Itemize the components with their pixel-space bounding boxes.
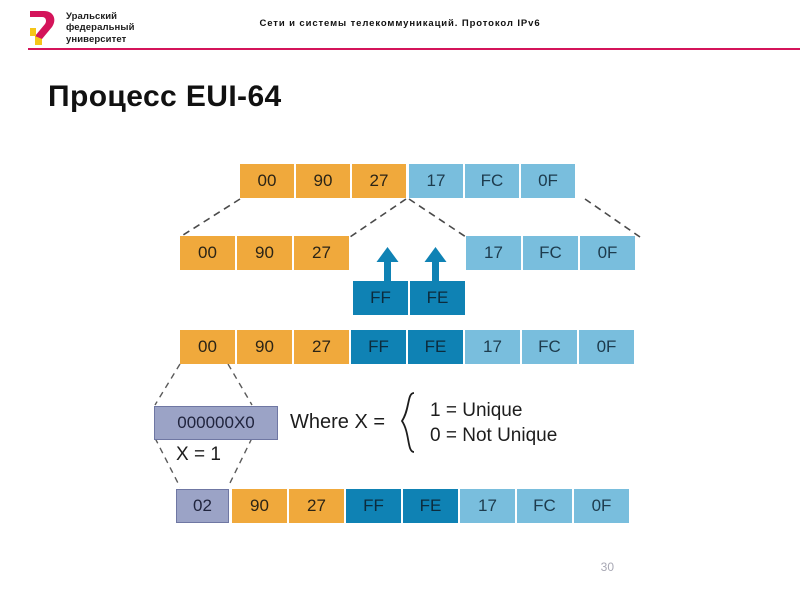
octet-cell: FC — [522, 330, 577, 364]
dashed-connector-right — [409, 199, 640, 237]
octet-cell: FF — [346, 489, 401, 523]
dashed-connector-left — [180, 199, 406, 237]
octet-cell: 27 — [294, 330, 349, 364]
bit-pattern-box: 000000X0 — [154, 406, 278, 440]
insert-arrow-fe — [425, 247, 447, 281]
octet-cell-inserted: FE — [410, 281, 465, 315]
octet-cell: 0F — [574, 489, 629, 523]
octet-cell: 90 — [237, 330, 292, 364]
octet-cell: 27 — [294, 236, 349, 270]
legend-curly-brace — [402, 393, 414, 452]
octet-cell-inserted: FF — [353, 281, 408, 315]
octet-cell: 02 — [176, 489, 229, 523]
octet-cell: 17 — [409, 164, 463, 198]
octet-cell: 27 — [289, 489, 344, 523]
octet-cell: FC — [523, 236, 578, 270]
where-x-label: Where X = — [290, 411, 385, 434]
legend-unique: 1 = Unique — [430, 398, 557, 423]
octet-cell: 0F — [580, 236, 635, 270]
octet-cell: 90 — [232, 489, 287, 523]
octet-cell: FE — [408, 330, 463, 364]
x-assignment-label: X = 1 — [176, 444, 221, 466]
page-number: 30 — [601, 560, 614, 574]
octet-cell: 00 — [180, 330, 235, 364]
octet-cell: 0F — [579, 330, 634, 364]
octet-cell: FC — [465, 164, 519, 198]
insert-arrow-ff — [377, 247, 399, 281]
uniqueness-legend: 1 = Unique 0 = Not Unique — [430, 398, 557, 448]
octet-cell: 17 — [460, 489, 515, 523]
octet-cell: FC — [517, 489, 572, 523]
octet-cell: 90 — [237, 236, 292, 270]
octet-cell: FF — [351, 330, 406, 364]
octet-cell: 17 — [466, 236, 521, 270]
octet-cell: FE — [403, 489, 458, 523]
octet-cell: 0F — [521, 164, 575, 198]
octet-cell: 90 — [296, 164, 350, 198]
legend-not-unique: 0 = Not Unique — [430, 423, 557, 448]
octet-cell: 27 — [352, 164, 406, 198]
octet-cell: 00 — [180, 236, 235, 270]
octet-cell: 17 — [465, 330, 520, 364]
octet-cell: 00 — [240, 164, 294, 198]
eui64-diagram: 00 90 27 17 FC 0F 00 90 27 17 FC 0F FF F… — [0, 0, 800, 600]
